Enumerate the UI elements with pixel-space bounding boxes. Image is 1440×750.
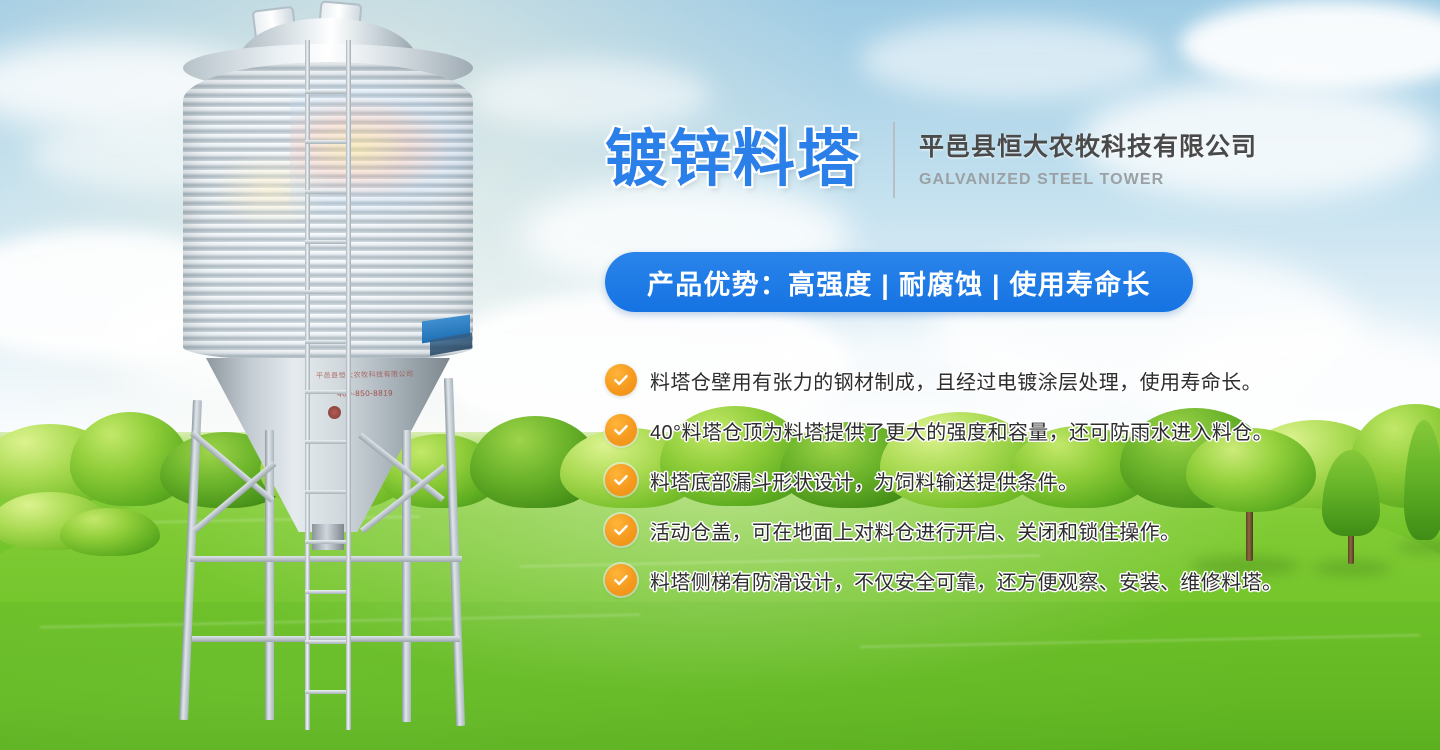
galvanized-feed-silo: 平邑县恒大农牧科技有限公司 400-850-8819 [150, 0, 520, 750]
company-name-english: GALVANIZED STEEL TOWER [919, 171, 1257, 189]
ladder-rung [305, 540, 346, 544]
silo-printed-badge [328, 406, 341, 419]
feature-text: 料塔侧梯有防滑设计，不仅安全可靠，还方便观察、安装、维修料塔。 [650, 566, 1282, 595]
check-circle-icon [605, 514, 637, 546]
ladder-rung [305, 590, 346, 594]
bush [60, 508, 160, 556]
advantage-pill-label: 产品优势：高强度 | 耐腐蚀 | 使用寿命长 [647, 263, 1151, 302]
feature-text: 料塔仓壁用有张力的钢材制成，且经过电镀涂层处理，使用寿命长。 [650, 366, 1262, 395]
feature-text: 40°料塔仓顶为料塔提供了更大的强度和容量，还可防雨水进入料仓。 [650, 416, 1273, 445]
title-divider [893, 122, 895, 198]
promo-banner: 平邑县恒大农牧科技有限公司 400-850-8819 [0, 0, 1440, 750]
ladder-rung [305, 190, 346, 194]
feature-text: 料塔底部漏斗形状设计，为饲料输送提供条件。 [650, 466, 1078, 495]
silo-corrugated-body [183, 62, 473, 362]
page-title: 镀锌料塔 [605, 129, 861, 191]
list-item: 料塔侧梯有防滑设计，不仅安全可靠，还方便观察、安装、维修料塔。 [605, 555, 1305, 605]
ladder-rung [305, 340, 346, 344]
ladder-rung [305, 140, 346, 144]
feature-list: 料塔仓壁用有张力的钢材制成，且经过电镀涂层处理，使用寿命长。 40°料塔仓顶为料… [605, 355, 1305, 605]
banner-content: 镀锌料塔 平邑县恒大农牧科技有限公司 GALVANIZED STEEL TOWE… [600, 0, 1440, 750]
ladder-rung [305, 390, 346, 394]
silo-printed-contact: 平邑县恒大农牧科技有限公司 400-850-8819 [300, 369, 430, 399]
company-block: 平邑县恒大农牧科技有限公司 GALVANIZED STEEL TOWER [919, 132, 1257, 189]
feature-text: 活动仓盖，可在地面上对料仓进行开启、关闭和锁住操作。 [650, 516, 1180, 545]
list-item: 活动仓盖，可在地面上对料仓进行开启、关闭和锁住操作。 [605, 505, 1305, 555]
list-item: 40°料塔仓顶为料塔提供了更大的强度和容量，还可防雨水进入料仓。 [605, 405, 1305, 455]
check-circle-icon [605, 364, 637, 396]
check-circle-icon [605, 414, 637, 446]
ladder-rung [305, 690, 346, 694]
advantage-pill[interactable]: 产品优势：高强度 | 耐腐蚀 | 使用寿命长 [605, 252, 1193, 312]
silo-discharge-neck [312, 524, 344, 550]
ladder-rung [305, 90, 346, 94]
support-leg [444, 378, 465, 726]
silo-printed-company: 平邑县恒大农牧科技有限公司 [300, 369, 430, 381]
ladder-rung [305, 440, 346, 444]
list-item: 料塔底部漏斗形状设计，为饲料输送提供条件。 [605, 455, 1305, 505]
check-circle-icon [605, 464, 637, 496]
ladder-rail [346, 40, 351, 730]
ladder-rung [305, 640, 346, 644]
company-name: 平邑县恒大农牧科技有限公司 [919, 132, 1257, 162]
horizontal-brace [190, 556, 462, 562]
list-item: 料塔仓壁用有张力的钢材制成，且经过电镀涂层处理，使用寿命长。 [605, 355, 1305, 405]
ladder-rung [305, 490, 346, 494]
check-circle-icon [605, 564, 637, 596]
title-row: 镀锌料塔 平邑县恒大农牧科技有限公司 GALVANIZED STEEL TOWE… [605, 122, 1257, 198]
ladder-rung [305, 290, 346, 294]
ladder-rung [305, 240, 346, 244]
